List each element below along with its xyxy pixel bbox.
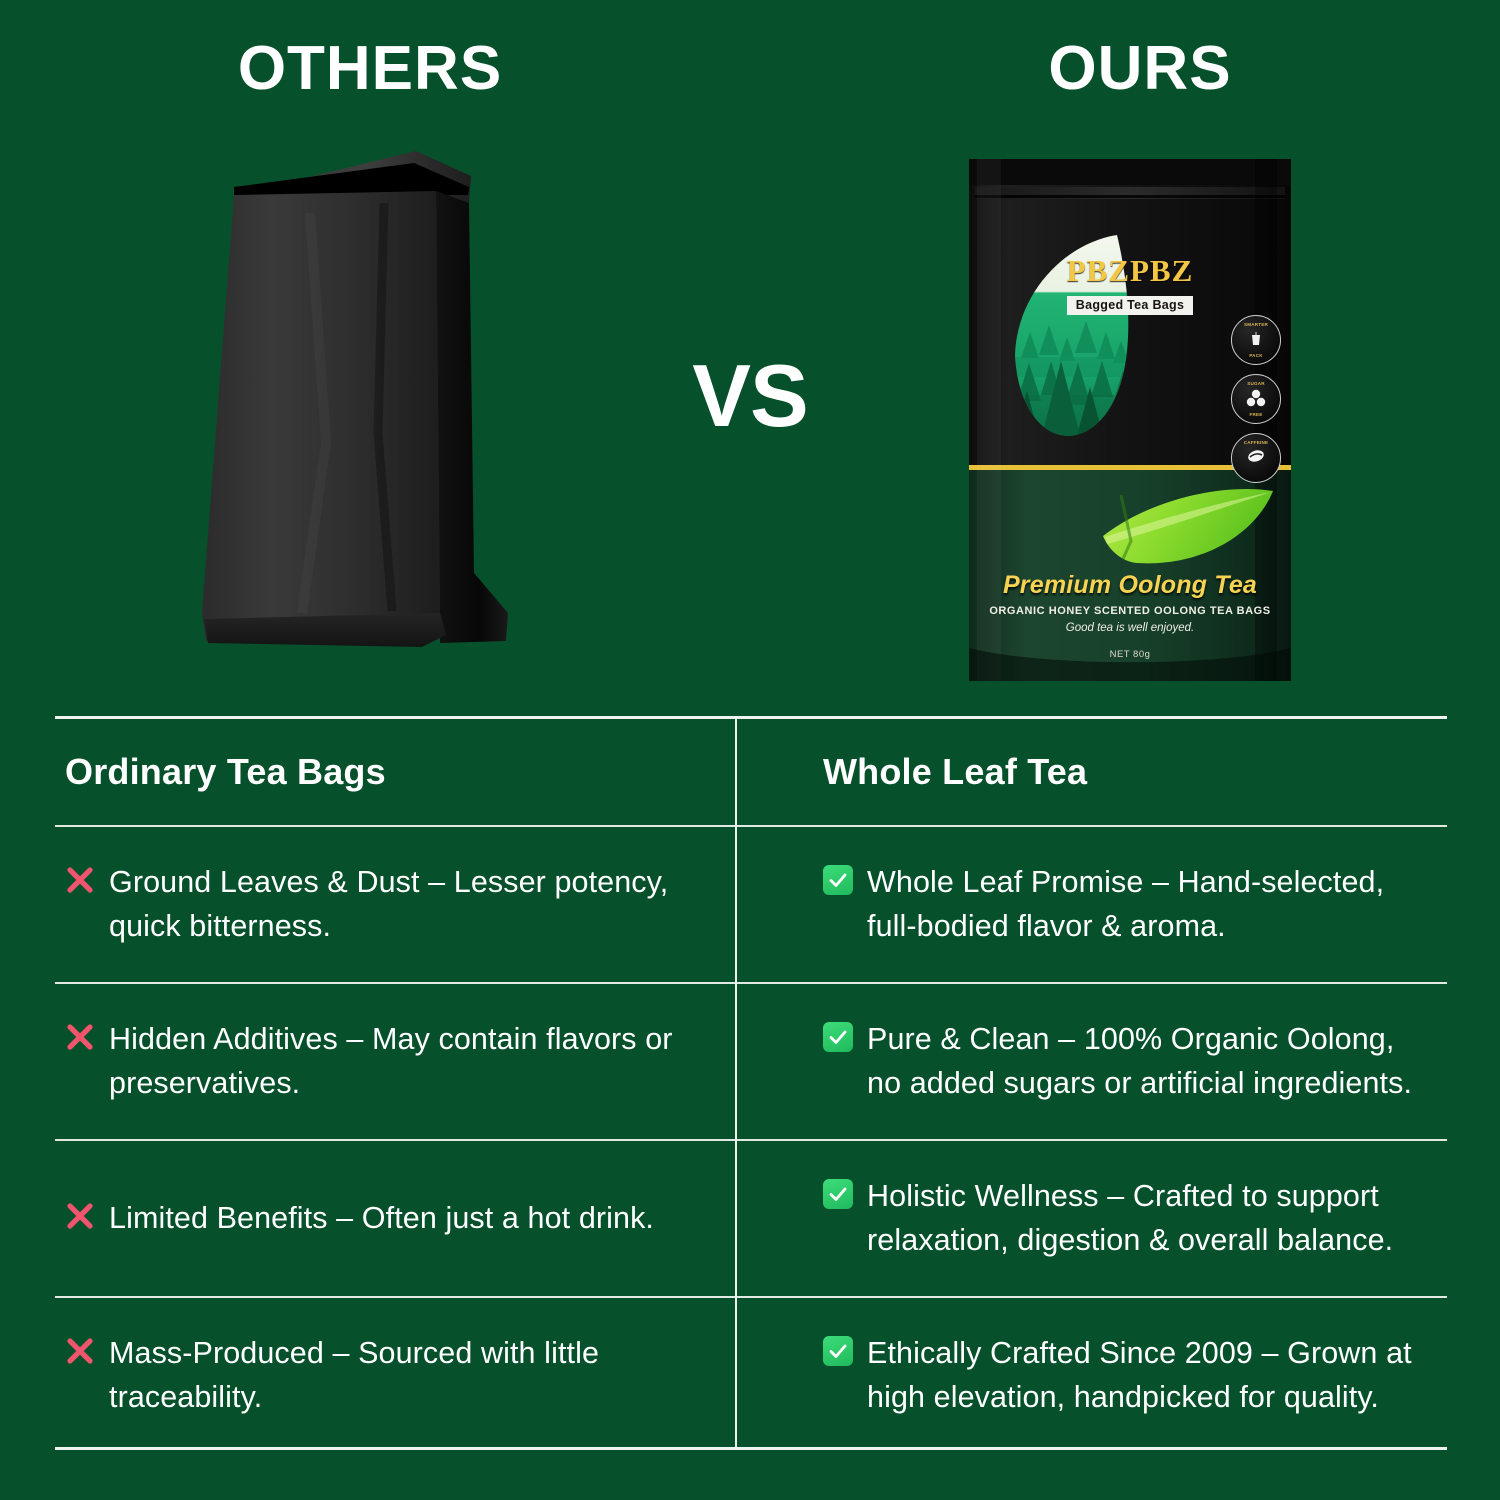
check-mark-icon xyxy=(823,1336,853,1366)
header-cell-others: Ordinary Tea Bags xyxy=(55,719,735,825)
feature-positive: Holistic Wellness – Crafted to support r… xyxy=(823,1175,1419,1262)
cell-others: Mass-Produced – Sourced with little trac… xyxy=(55,1298,735,1453)
feature-negative: Mass-Produced – Sourced with little trac… xyxy=(65,1332,707,1419)
vs-label: VS xyxy=(650,352,850,440)
x-mark-icon xyxy=(65,1022,95,1052)
cell-others: Hidden Additives – May contain flavors o… xyxy=(55,984,735,1139)
comparison-table: Ordinary Tea Bags Whole Leaf Tea Ground … xyxy=(55,716,1447,1450)
feature-text: Mass-Produced – Sourced with little trac… xyxy=(109,1332,707,1419)
feature-negative: Limited Benefits – Often just a hot drin… xyxy=(65,1197,654,1240)
column-divider xyxy=(735,719,737,1447)
feature-positive: Pure & Clean – 100% Organic Oolong, no a… xyxy=(823,1018,1419,1105)
column-header-ordinary: Ordinary Tea Bags xyxy=(65,751,386,793)
feature-positive: Ethically Crafted Since 2009 – Grown at … xyxy=(823,1332,1419,1419)
cell-ours: Ethically Crafted Since 2009 – Grown at … xyxy=(735,1298,1447,1453)
feature-text: Ethically Crafted Since 2009 – Grown at … xyxy=(867,1332,1419,1419)
feature-text: Hidden Additives – May contain flavors o… xyxy=(109,1018,707,1105)
feature-negative: Hidden Additives – May contain flavors o… xyxy=(65,1018,707,1105)
feature-text: Limited Benefits – Often just a hot drin… xyxy=(109,1197,654,1240)
check-mark-icon xyxy=(823,1022,853,1052)
table-header-row: Ordinary Tea Bags Whole Leaf Tea xyxy=(55,719,1447,825)
feature-negative: Ground Leaves & Dust – Lesser potency, q… xyxy=(65,861,707,948)
feature-text: Ground Leaves & Dust – Lesser potency, q… xyxy=(109,861,707,948)
column-header-whole-leaf: Whole Leaf Tea xyxy=(823,751,1087,793)
cell-ours: Holistic Wellness – Crafted to support r… xyxy=(735,1141,1447,1296)
check-mark-icon xyxy=(823,1179,853,1209)
premium-oolong-pouch-image: PBZPBZ Bagged Tea Bags SMARTER PACK xyxy=(955,143,1305,688)
table-row: Limited Benefits – Often just a hot drin… xyxy=(55,1141,1447,1296)
table-row: Hidden Additives – May contain flavors o… xyxy=(55,984,1447,1139)
check-mark-icon xyxy=(823,865,853,895)
x-mark-icon xyxy=(65,865,95,895)
feature-text: Holistic Wellness – Crafted to support r… xyxy=(867,1175,1419,1262)
feature-positive: Whole Leaf Promise – Hand-selected, full… xyxy=(823,861,1419,948)
cell-others: Ground Leaves & Dust – Lesser potency, q… xyxy=(55,827,735,982)
x-mark-icon xyxy=(65,1336,95,1366)
cell-others: Limited Benefits – Often just a hot drin… xyxy=(55,1141,735,1296)
table-row: Mass-Produced – Sourced with little trac… xyxy=(55,1298,1447,1453)
feature-text: Whole Leaf Promise – Hand-selected, full… xyxy=(867,861,1419,948)
plain-black-paper-bag-image xyxy=(178,143,538,701)
cell-ours: Whole Leaf Promise – Hand-selected, full… xyxy=(735,827,1447,982)
feature-text: Pure & Clean – 100% Organic Oolong, no a… xyxy=(867,1018,1419,1105)
header-cell-ours: Whole Leaf Tea xyxy=(735,719,1447,825)
hero-comparison: OTHERS OURS xyxy=(0,0,1500,712)
others-heading: OTHERS xyxy=(120,38,620,100)
table-row: Ground Leaves & Dust – Lesser potency, q… xyxy=(55,827,1447,982)
cell-ours: Pure & Clean – 100% Organic Oolong, no a… xyxy=(735,984,1447,1139)
ours-heading: OURS xyxy=(890,38,1390,100)
x-mark-icon xyxy=(65,1201,95,1231)
